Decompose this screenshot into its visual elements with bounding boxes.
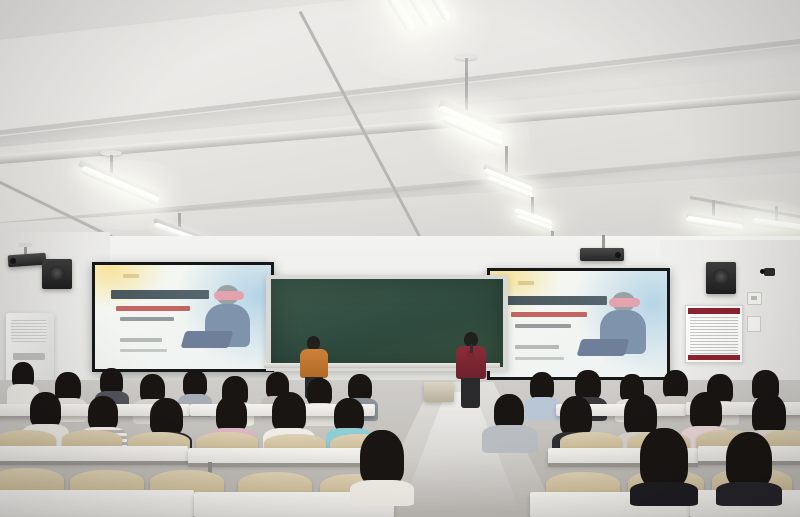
- slide-date-text: [515, 357, 565, 360]
- person-head: [150, 398, 183, 436]
- notice-footer-bar: [688, 355, 740, 360]
- person-head: [494, 394, 524, 429]
- right-projection-screen: [487, 268, 670, 380]
- slide-title-text: [111, 290, 210, 299]
- student-desk: [0, 490, 194, 517]
- person-head: [88, 396, 118, 431]
- slide-subtitle-text: [116, 306, 190, 311]
- illustration-vr-headset: [609, 298, 640, 307]
- wall-switch[interactable]: [747, 316, 761, 332]
- slide-org-text: [120, 338, 162, 342]
- desk-edge: [188, 463, 386, 467]
- desk-edge: [0, 461, 188, 465]
- person-head: [183, 370, 207, 397]
- illustration-laptop: [181, 331, 234, 348]
- projector-lens: [10, 258, 16, 264]
- illustration-vr-headset: [214, 291, 244, 299]
- person-torso: [482, 425, 538, 453]
- person-head: [307, 336, 320, 350]
- slide-title-text: [506, 296, 607, 305]
- lectern-items: [424, 382, 454, 402]
- person-head: [360, 430, 404, 486]
- person-head: [690, 392, 722, 430]
- person-torso: [350, 480, 414, 506]
- light-rod: [465, 58, 468, 114]
- person-head: [216, 396, 247, 432]
- person-head: [530, 372, 554, 400]
- ac-control-panel[interactable]: [13, 353, 45, 360]
- wall-notice-poster: [685, 305, 743, 363]
- ceiling-projector: [580, 248, 624, 261]
- slide-tag-mark: [518, 281, 534, 285]
- slide-date-text: [120, 349, 168, 352]
- classroom-photo: [0, 0, 800, 517]
- wall-speaker: [42, 259, 72, 289]
- wall-speaker: [706, 262, 736, 294]
- ac-grille: [11, 320, 47, 342]
- notice-header-bar: [688, 308, 740, 314]
- light-rod: [775, 206, 778, 222]
- illustration-laptop: [576, 339, 629, 356]
- person-head: [307, 378, 332, 406]
- slide-subtitle-text: [511, 312, 587, 317]
- right-slide: [490, 271, 667, 377]
- person-head: [726, 432, 772, 488]
- slide-yellow-wash: [95, 265, 169, 309]
- student-desk: [0, 446, 188, 462]
- person-head: [752, 394, 786, 434]
- person-head: [663, 370, 688, 399]
- person-legs: [461, 378, 480, 408]
- student-desk: [188, 448, 386, 464]
- security-camera: [764, 268, 775, 276]
- power-outlet: [747, 292, 762, 305]
- slide-tag-mark: [123, 274, 139, 278]
- person-head: [348, 374, 372, 401]
- person-head: [560, 396, 592, 436]
- microphone[interactable]: [470, 344, 473, 353]
- slide-presenter-text: [120, 317, 175, 321]
- notice-body-text: [690, 317, 738, 355]
- person-head: [640, 428, 688, 488]
- slide-org-text: [515, 345, 559, 349]
- person-torso: [716, 482, 782, 506]
- left-projection-screen: [92, 262, 274, 372]
- person-torso: [300, 349, 328, 378]
- person-head: [30, 392, 61, 428]
- person-torso: [630, 482, 698, 506]
- light-rod: [505, 146, 508, 174]
- camera-lens: [760, 269, 765, 274]
- slide-presenter-text: [515, 324, 572, 328]
- projector-mount: [602, 235, 605, 249]
- person-torso: [525, 397, 560, 420]
- person-head: [272, 392, 306, 432]
- speaker-cone: [49, 266, 66, 280]
- speaker-cone: [713, 269, 730, 284]
- person-head: [334, 398, 364, 432]
- projector-lens: [615, 252, 621, 258]
- left-slide: [95, 265, 271, 369]
